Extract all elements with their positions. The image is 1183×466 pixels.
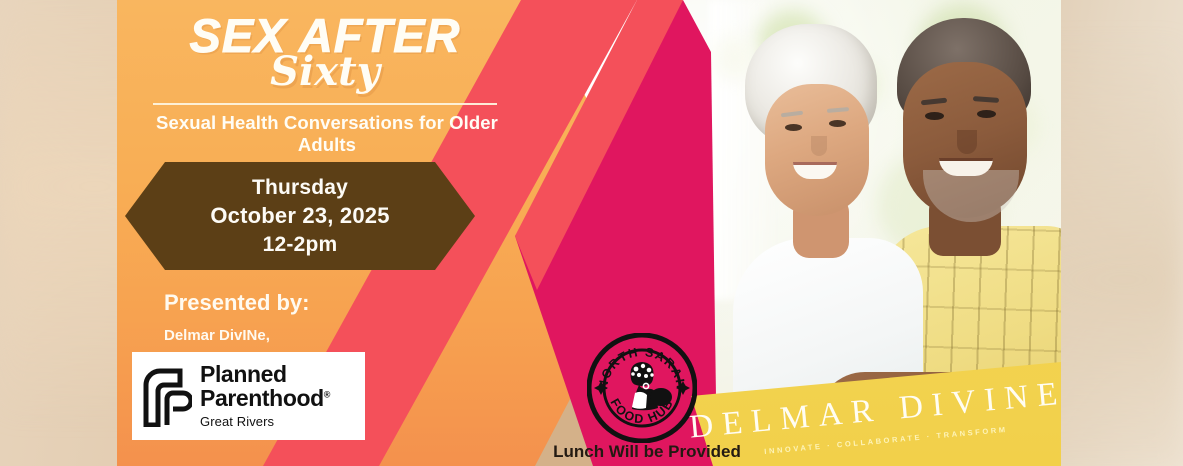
woman-nose <box>811 136 827 156</box>
registered-mark: ® <box>324 389 330 399</box>
event-flyer: DELMAR DIVINE™ INNOVATE · COLLABORATE · … <box>117 0 1061 466</box>
planned-parenthood-mark <box>140 365 192 427</box>
lunch-note: Lunch Will be Provided <box>517 442 777 462</box>
north-sarah-food-hub-seal: NORTH SARAH FOOD HUB <box>587 333 697 443</box>
pp-line-1: Planned <box>200 363 330 387</box>
woman-eye <box>829 120 846 127</box>
flyer-left-column: SEX AFTER Sixty Sexual Health Conversati… <box>117 0 547 466</box>
event-date-block: Thursday October 23, 2025 12-2pm <box>125 162 475 270</box>
planned-parenthood-text: Planned Parenthood® Great Rivers <box>200 363 330 428</box>
presented-by-label: Presented by: <box>164 290 310 316</box>
man-nose <box>957 130 977 154</box>
title-divider-rule <box>153 103 497 105</box>
screenshot-stage: DELMAR DIVINE™ INNOVATE · COLLABORATE · … <box>0 0 1183 466</box>
flyer-title-script: Sixty <box>147 52 503 92</box>
event-day: Thursday <box>252 174 348 202</box>
flyer-subtitle: Sexual Health Conversations for Older Ad… <box>127 112 527 156</box>
man-eye <box>977 110 996 118</box>
pp-line-2: Parenthood® <box>200 387 330 411</box>
presenter-name: Delmar DivINe, <box>164 327 270 344</box>
planned-parenthood-logo: Planned Parenthood® Great Rivers <box>132 352 365 440</box>
man-eye <box>925 112 944 120</box>
delmar-divine-wordmark: DELMAR DIVINE™ <box>688 376 1061 444</box>
woman-eye <box>785 124 802 131</box>
pp-affiliate: Great Rivers <box>200 414 330 429</box>
event-date: October 23, 2025 <box>210 201 389 230</box>
event-time: 12-2pm <box>263 231 338 259</box>
